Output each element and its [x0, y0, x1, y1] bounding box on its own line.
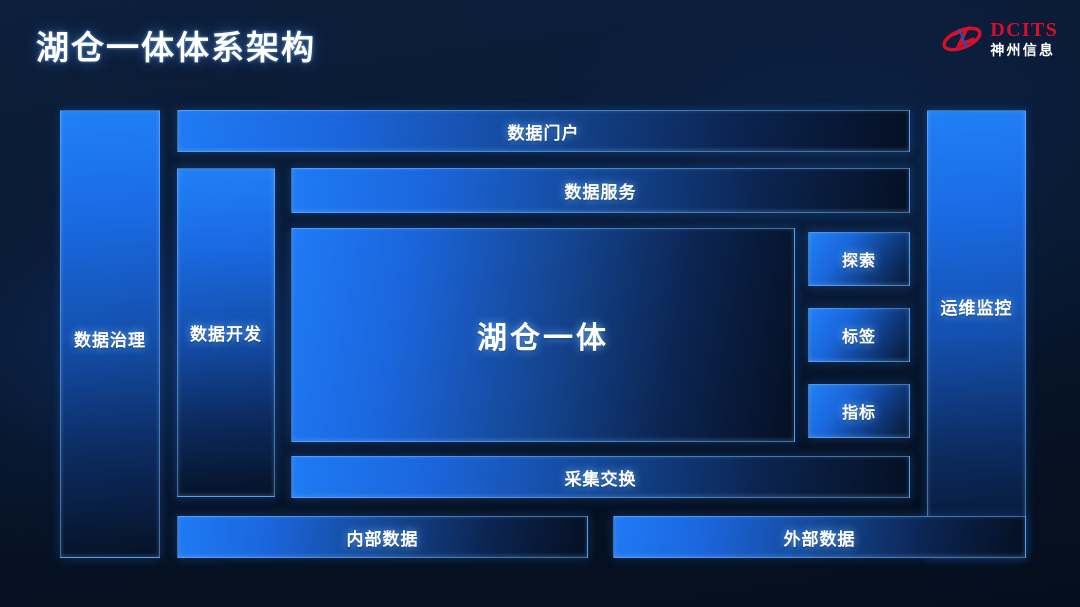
block-data-development[interactable]: 数据开发 — [177, 168, 275, 497]
block-label: 内部数据 — [347, 525, 419, 550]
block-label: 数据服务 — [565, 178, 637, 203]
block-collect-exchange[interactable]: 采集交换 — [291, 456, 910, 498]
block-label: 采集交换 — [565, 465, 637, 490]
block-label: 运维监控 — [941, 294, 1013, 319]
block-data-governance[interactable]: 数据治理 — [60, 110, 160, 558]
block-internal-data[interactable]: 内部数据 — [177, 516, 588, 558]
block-data-service[interactable]: 数据服务 — [291, 168, 910, 213]
logo-english-name: DCITS — [990, 20, 1058, 40]
block-label: 数据开发 — [190, 320, 262, 345]
block-lakehouse[interactable]: 湖仓一体 — [291, 228, 795, 442]
block-label: 数据治理 — [74, 326, 146, 351]
block-label: 湖仓一体 — [477, 313, 609, 357]
block-explore[interactable]: 探索 — [808, 232, 910, 286]
architecture-slide: 湖仓一体体系架构 DCITS 神州信息 数据治理 运维监控 数据门户 数据开发 … — [0, 0, 1080, 607]
block-tag[interactable]: 标签 — [808, 308, 910, 362]
logo-chinese-name: 神州信息 — [990, 43, 1058, 57]
block-label: 外部数据 — [784, 525, 856, 550]
block-label: 数据门户 — [508, 119, 580, 144]
logo-wordmark: DCITS 神州信息 — [990, 20, 1058, 57]
block-label: 标签 — [842, 323, 876, 347]
block-ops-monitoring[interactable]: 运维监控 — [927, 110, 1026, 558]
block-label: 探索 — [842, 247, 876, 271]
brand-logo: DCITS 神州信息 — [941, 20, 1058, 57]
block-external-data[interactable]: 外部数据 — [613, 516, 1026, 558]
block-label: 指标 — [842, 399, 876, 423]
dcits-swirl-logo-icon — [941, 23, 983, 55]
block-data-portal[interactable]: 数据门户 — [177, 110, 910, 152]
block-metric[interactable]: 指标 — [808, 384, 910, 438]
page-title: 湖仓一体体系架构 — [36, 21, 316, 69]
